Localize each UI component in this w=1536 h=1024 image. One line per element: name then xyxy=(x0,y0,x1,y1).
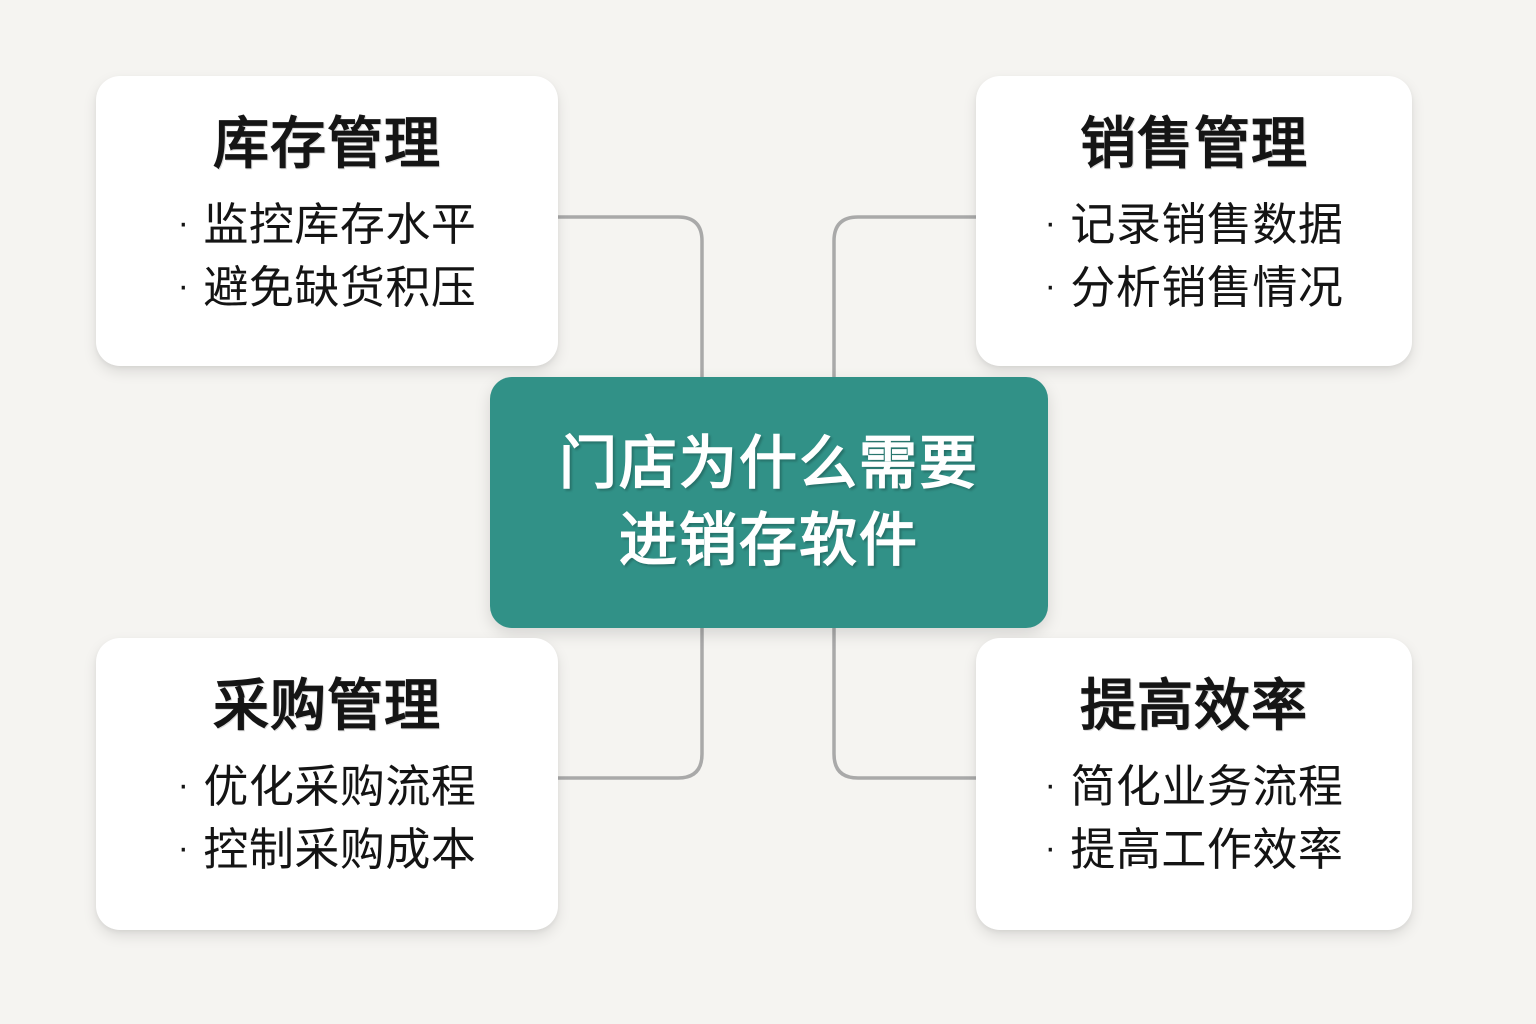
bullet-label: 提高工作效率 xyxy=(1070,823,1343,878)
bullet-dot-icon: · xyxy=(178,831,190,865)
bullet-label: 分析销售情况 xyxy=(1070,261,1343,316)
card-bullets-purchasing: · 优化采购流程 · 控制采购成本 xyxy=(178,760,477,878)
bullet-label: 简化业务流程 xyxy=(1070,760,1343,815)
card-bullets-inventory: · 监控库存水平 · 避免缺货积压 xyxy=(178,198,477,316)
card-title-sales: 销售管理 xyxy=(1080,114,1308,174)
bullet-dot-icon: · xyxy=(1045,768,1057,802)
bullet-dot-icon: · xyxy=(1045,269,1057,303)
card-title-purchasing: 采购管理 xyxy=(213,676,441,736)
bullet-item: · 简化业务流程 xyxy=(1045,760,1344,815)
connector-inventory-to-center xyxy=(556,217,702,383)
connector-sales-to-center xyxy=(834,217,980,383)
bullet-dot-icon: · xyxy=(1045,206,1057,240)
card-title-efficiency: 提高效率 xyxy=(1080,676,1308,736)
card-purchasing[interactable]: 采购管理 · 优化采购流程 · 控制采购成本 xyxy=(96,638,558,930)
bullet-item: · 提高工作效率 xyxy=(1045,823,1344,878)
card-inventory[interactable]: 库存管理 · 监控库存水平 · 避免缺货积压 xyxy=(96,76,558,366)
bullet-label: 优化采购流程 xyxy=(203,760,476,815)
bullet-dot-icon: · xyxy=(178,269,190,303)
bullet-label: 记录销售数据 xyxy=(1070,198,1343,253)
bullet-label: 监控库存水平 xyxy=(203,198,476,253)
center-node[interactable]: 门店为什么需要 进销存软件 xyxy=(490,377,1048,628)
bullet-item: · 避免缺货积压 xyxy=(178,261,477,316)
bullet-dot-icon: · xyxy=(178,768,190,802)
card-efficiency[interactable]: 提高效率 · 简化业务流程 · 提高工作效率 xyxy=(976,638,1412,930)
diagram-canvas: 库存管理 · 监控库存水平 · 避免缺货积压 销售管理 · 记录销售数据 · 分… xyxy=(0,0,1536,1024)
card-title-inventory: 库存管理 xyxy=(213,114,441,174)
bullet-dot-icon: · xyxy=(178,206,190,240)
card-sales[interactable]: 销售管理 · 记录销售数据 · 分析销售情况 xyxy=(976,76,1412,366)
bullet-item: · 控制采购成本 xyxy=(178,823,477,878)
bullet-item: · 记录销售数据 xyxy=(1045,198,1344,253)
connector-purchasing-to-center xyxy=(556,622,702,778)
card-bullets-efficiency: · 简化业务流程 · 提高工作效率 xyxy=(1045,760,1344,878)
card-bullets-sales: · 记录销售数据 · 分析销售情况 xyxy=(1045,198,1344,316)
bullet-label: 控制采购成本 xyxy=(203,823,476,878)
connector-efficiency-to-center xyxy=(834,622,980,778)
bullet-dot-icon: · xyxy=(1045,831,1057,865)
bullet-item: · 优化采购流程 xyxy=(178,760,477,815)
bullet-item: · 分析销售情况 xyxy=(1045,261,1344,316)
center-node-title: 门店为什么需要 进销存软件 xyxy=(559,426,979,579)
bullet-label: 避免缺货积压 xyxy=(203,261,476,316)
bullet-item: · 监控库存水平 xyxy=(178,198,477,253)
